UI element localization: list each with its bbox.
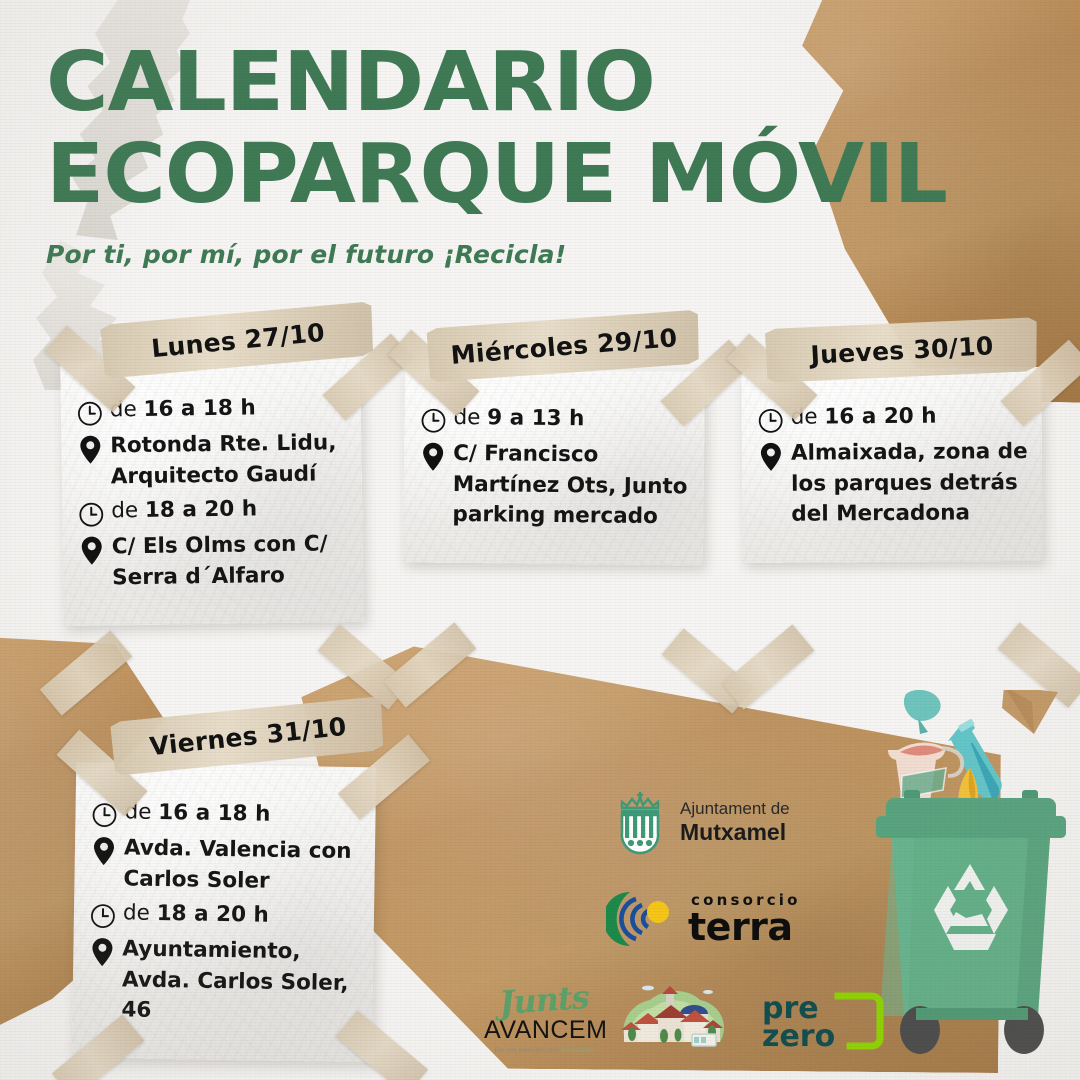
clock-icon — [76, 497, 106, 533]
mutxamel-line-1: Ajuntament de — [680, 799, 790, 819]
crowned-shield-icon — [612, 790, 668, 856]
day-label-text: Miércoles 29/10 — [450, 323, 679, 370]
logo-ajuntament-mutxamel: Ajuntament de Mutxamel — [612, 790, 790, 856]
green-wheelie-bin-icon — [876, 790, 1066, 1054]
junts-script-word: Junts — [483, 982, 605, 1019]
schedule-time-entry: de 18 a 20 h — [76, 493, 348, 533]
schedule-location-text: Avda. Valencia con Carlos Soler — [123, 833, 361, 898]
junts-tagline-highlight: sostenibles — [561, 1048, 593, 1054]
junts-tagline-plain: Per uns municipis més — [495, 1048, 561, 1054]
schedule-location-text: Ayuntamiento, Avda. Carlos Soler, 46 — [121, 934, 359, 1029]
location-pin-icon — [87, 934, 118, 970]
terra-wordmark: consorcio terra — [688, 893, 801, 945]
mutxamel-line-2: Mutxamel — [680, 819, 790, 846]
location-pin-icon — [89, 833, 120, 869]
mutxamel-wordmark: Ajuntament de Mutxamel — [680, 799, 790, 846]
location-pin-icon — [418, 439, 448, 475]
junts-tagline: Per uns municipis més sostenibles — [484, 1048, 604, 1054]
schedule-location-text: C/ Francisco Martínez Ots, Junto parking… — [452, 439, 690, 533]
logo-consorcio-terra: consorcio terra — [606, 890, 801, 948]
terra-waves-icon — [606, 890, 678, 948]
recycling-bin-illustration — [862, 690, 1080, 1075]
poster-subtitle: Por ti, por mí, por el futuro ¡Recicla! — [46, 240, 912, 269]
schedule-time-text: de 9 a 13 h — [453, 403, 584, 435]
schedule-location-entry: Almaixada, zona de los parques detrás de… — [756, 437, 1029, 530]
schedule-location-text: Rotonda Rte. Lidu, Arquitecto Gaudí — [110, 428, 348, 492]
schedule-location-entry: C/ Francisco Martínez Ots, Junto parking… — [417, 439, 690, 533]
schedule-time-text: de 18 a 20 h — [111, 494, 257, 527]
terra-line-2: terra — [688, 909, 801, 945]
poster-header: CALENDARIO ECOPARQUE MÓVIL Por ti, por m… — [46, 44, 912, 269]
prezero-icon: pre zero — [760, 988, 886, 1054]
schedule-time-entry: de 18 a 20 h — [88, 898, 361, 938]
schedule-location-text: C/ Els Olms con C/ Serra d´Alfaro — [112, 529, 350, 593]
page-title-line-1: CALENDARIO — [46, 44, 947, 122]
location-pin-icon — [77, 533, 107, 569]
location-pin-icon — [75, 431, 105, 467]
tape-piece — [336, 1010, 428, 1080]
schedule-location-entry: C/ Els Olms con C/ Serra d´Alfaro — [77, 529, 350, 594]
clock-icon — [88, 898, 119, 934]
day-label-text: Jueves 30/10 — [810, 331, 994, 370]
logo-village-illustration — [608, 980, 736, 1065]
page-title-line-2: ECOPARQUE MÓVIL — [46, 136, 947, 214]
poster-canvas: CALENDARIO ECOPARQUE MÓVIL Por ti, por m… — [0, 0, 1080, 1080]
logo-junts-avancem: Junts AVANCEM Per uns municipis més sost… — [484, 986, 604, 1054]
schedule-time-text: de 16 a 20 h — [791, 402, 937, 434]
schedule-time-text: de 16 a 18 h — [110, 393, 256, 426]
village-illustration-icon — [608, 980, 736, 1060]
schedule-location-entry: Rotonda Rte. Lidu, Arquitecto Gaudí — [75, 428, 348, 493]
tape-piece — [722, 624, 814, 709]
paper-bag-icon — [1002, 690, 1058, 734]
schedule-location-text: Almaixada, zona de los parques detrás de… — [791, 437, 1029, 530]
prezero-line-2: zero — [762, 1019, 835, 1054]
plastic-bag-icon — [904, 690, 941, 734]
clock-icon — [418, 403, 448, 439]
location-pin-icon — [756, 439, 786, 475]
schedule-location-entry: Avda. Valencia con Carlos Soler — [88, 833, 361, 898]
schedule-time-text: de 16 a 18 h — [124, 797, 270, 830]
schedule-time-text: de 18 a 20 h — [123, 898, 269, 931]
day-label-text: Viernes 31/10 — [148, 711, 348, 761]
schedule-location-entry: Ayuntamiento, Avda. Carlos Soler, 46 — [86, 934, 359, 1030]
day-label-text: Lunes 27/10 — [150, 317, 326, 363]
logo-prezero: pre zero — [760, 988, 886, 1059]
